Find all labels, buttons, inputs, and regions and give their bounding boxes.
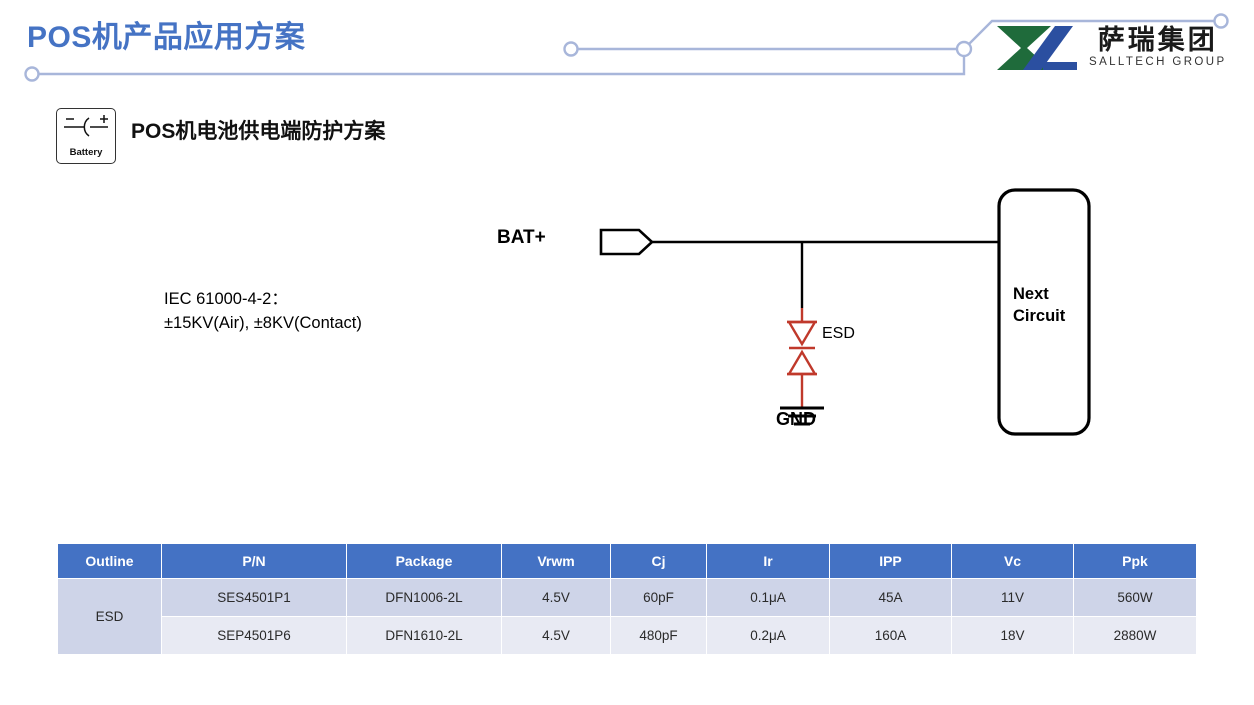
brand-name-en: SALLTECH GROUP (1089, 57, 1227, 69)
cell-ir: 0.2μA (707, 617, 830, 655)
salltech-logo-mark (993, 24, 1081, 72)
cell-vrwm: 4.5V (502, 617, 611, 655)
standards-line-1: IEC 61000-4-2： (164, 288, 362, 312)
cell-vc: 18V (952, 617, 1074, 655)
circuit-diagram: BAT+ ESD GND Next Circuit (480, 180, 1120, 450)
standards-line-2: ±15KV(Air), ±8KV(Contact) (164, 312, 362, 336)
col-header-vrwm[interactable]: Vrwm (502, 544, 611, 579)
cell-ppk: 2880W (1074, 617, 1197, 655)
battery-badge-label: Battery (57, 147, 115, 158)
cell-outline-group: ESD (58, 579, 162, 655)
cell-package: DFN1610-2L (347, 617, 502, 655)
page-title: POS机产品应用方案 (27, 12, 305, 56)
table-header-row: Outline P/N Package Vrwm Cj Ir IPP Vc Pp… (58, 544, 1197, 579)
cell-ipp: 45A (830, 579, 952, 617)
section-heading: POS机电池供电端防护方案 (131, 115, 385, 145)
brand-logo: 萨瑞集团 SALLTECH GROUP (993, 24, 1227, 72)
col-header-ir[interactable]: Ir (707, 544, 830, 579)
battery-symbol-icon (58, 110, 114, 144)
label-esd: ESD (822, 325, 855, 343)
spec-table: Outline P/N Package Vrwm Cj Ir IPP Vc Pp… (57, 543, 1197, 655)
next-circuit-line-2: Circuit (1013, 305, 1065, 327)
col-header-outline[interactable]: Outline (58, 544, 162, 579)
table-row: ESD SES4501P1 DFN1006-2L 4.5V 60pF 0.1μA… (58, 579, 1197, 617)
cell-ipp: 160A (830, 617, 952, 655)
cell-ir: 0.1μA (707, 579, 830, 617)
standards-note: IEC 61000-4-2： ±15KV(Air), ±8KV(Contact) (164, 288, 362, 336)
cell-pn: SES4501P1 (162, 579, 347, 617)
cell-ppk: 560W (1074, 579, 1197, 617)
bat-plus-pin-symbol (601, 230, 652, 254)
label-gnd: GND (776, 409, 816, 430)
esd-diode-upper-triangle (789, 322, 815, 344)
label-bat-plus: BAT+ (497, 227, 546, 249)
cell-package: DFN1006-2L (347, 579, 502, 617)
cell-vc: 11V (952, 579, 1074, 617)
table-row: SEP4501P6 DFN1610-2L 4.5V 480pF 0.2μA 16… (58, 617, 1197, 655)
cell-pn: SEP4501P6 (162, 617, 347, 655)
label-next-circuit: Next Circuit (1013, 283, 1065, 328)
col-header-vc[interactable]: Vc (952, 544, 1074, 579)
esd-diode-lower-triangle (789, 352, 815, 374)
next-circuit-line-1: Next (1013, 283, 1065, 305)
brand-name-cn: 萨瑞集团 (1098, 27, 1218, 54)
col-header-package[interactable]: Package (347, 544, 502, 579)
section-heading-latin: POS (131, 120, 175, 143)
battery-badge: Battery (56, 108, 116, 164)
cell-cj: 60pF (611, 579, 707, 617)
col-header-ipp[interactable]: IPP (830, 544, 952, 579)
col-header-cj[interactable]: Cj (611, 544, 707, 579)
cell-vrwm: 4.5V (502, 579, 611, 617)
section-heading-cn: 机电池供电端防护方案 (175, 118, 385, 143)
col-header-pn[interactable]: P/N (162, 544, 347, 579)
col-header-ppk[interactable]: Ppk (1074, 544, 1197, 579)
cell-cj: 480pF (611, 617, 707, 655)
